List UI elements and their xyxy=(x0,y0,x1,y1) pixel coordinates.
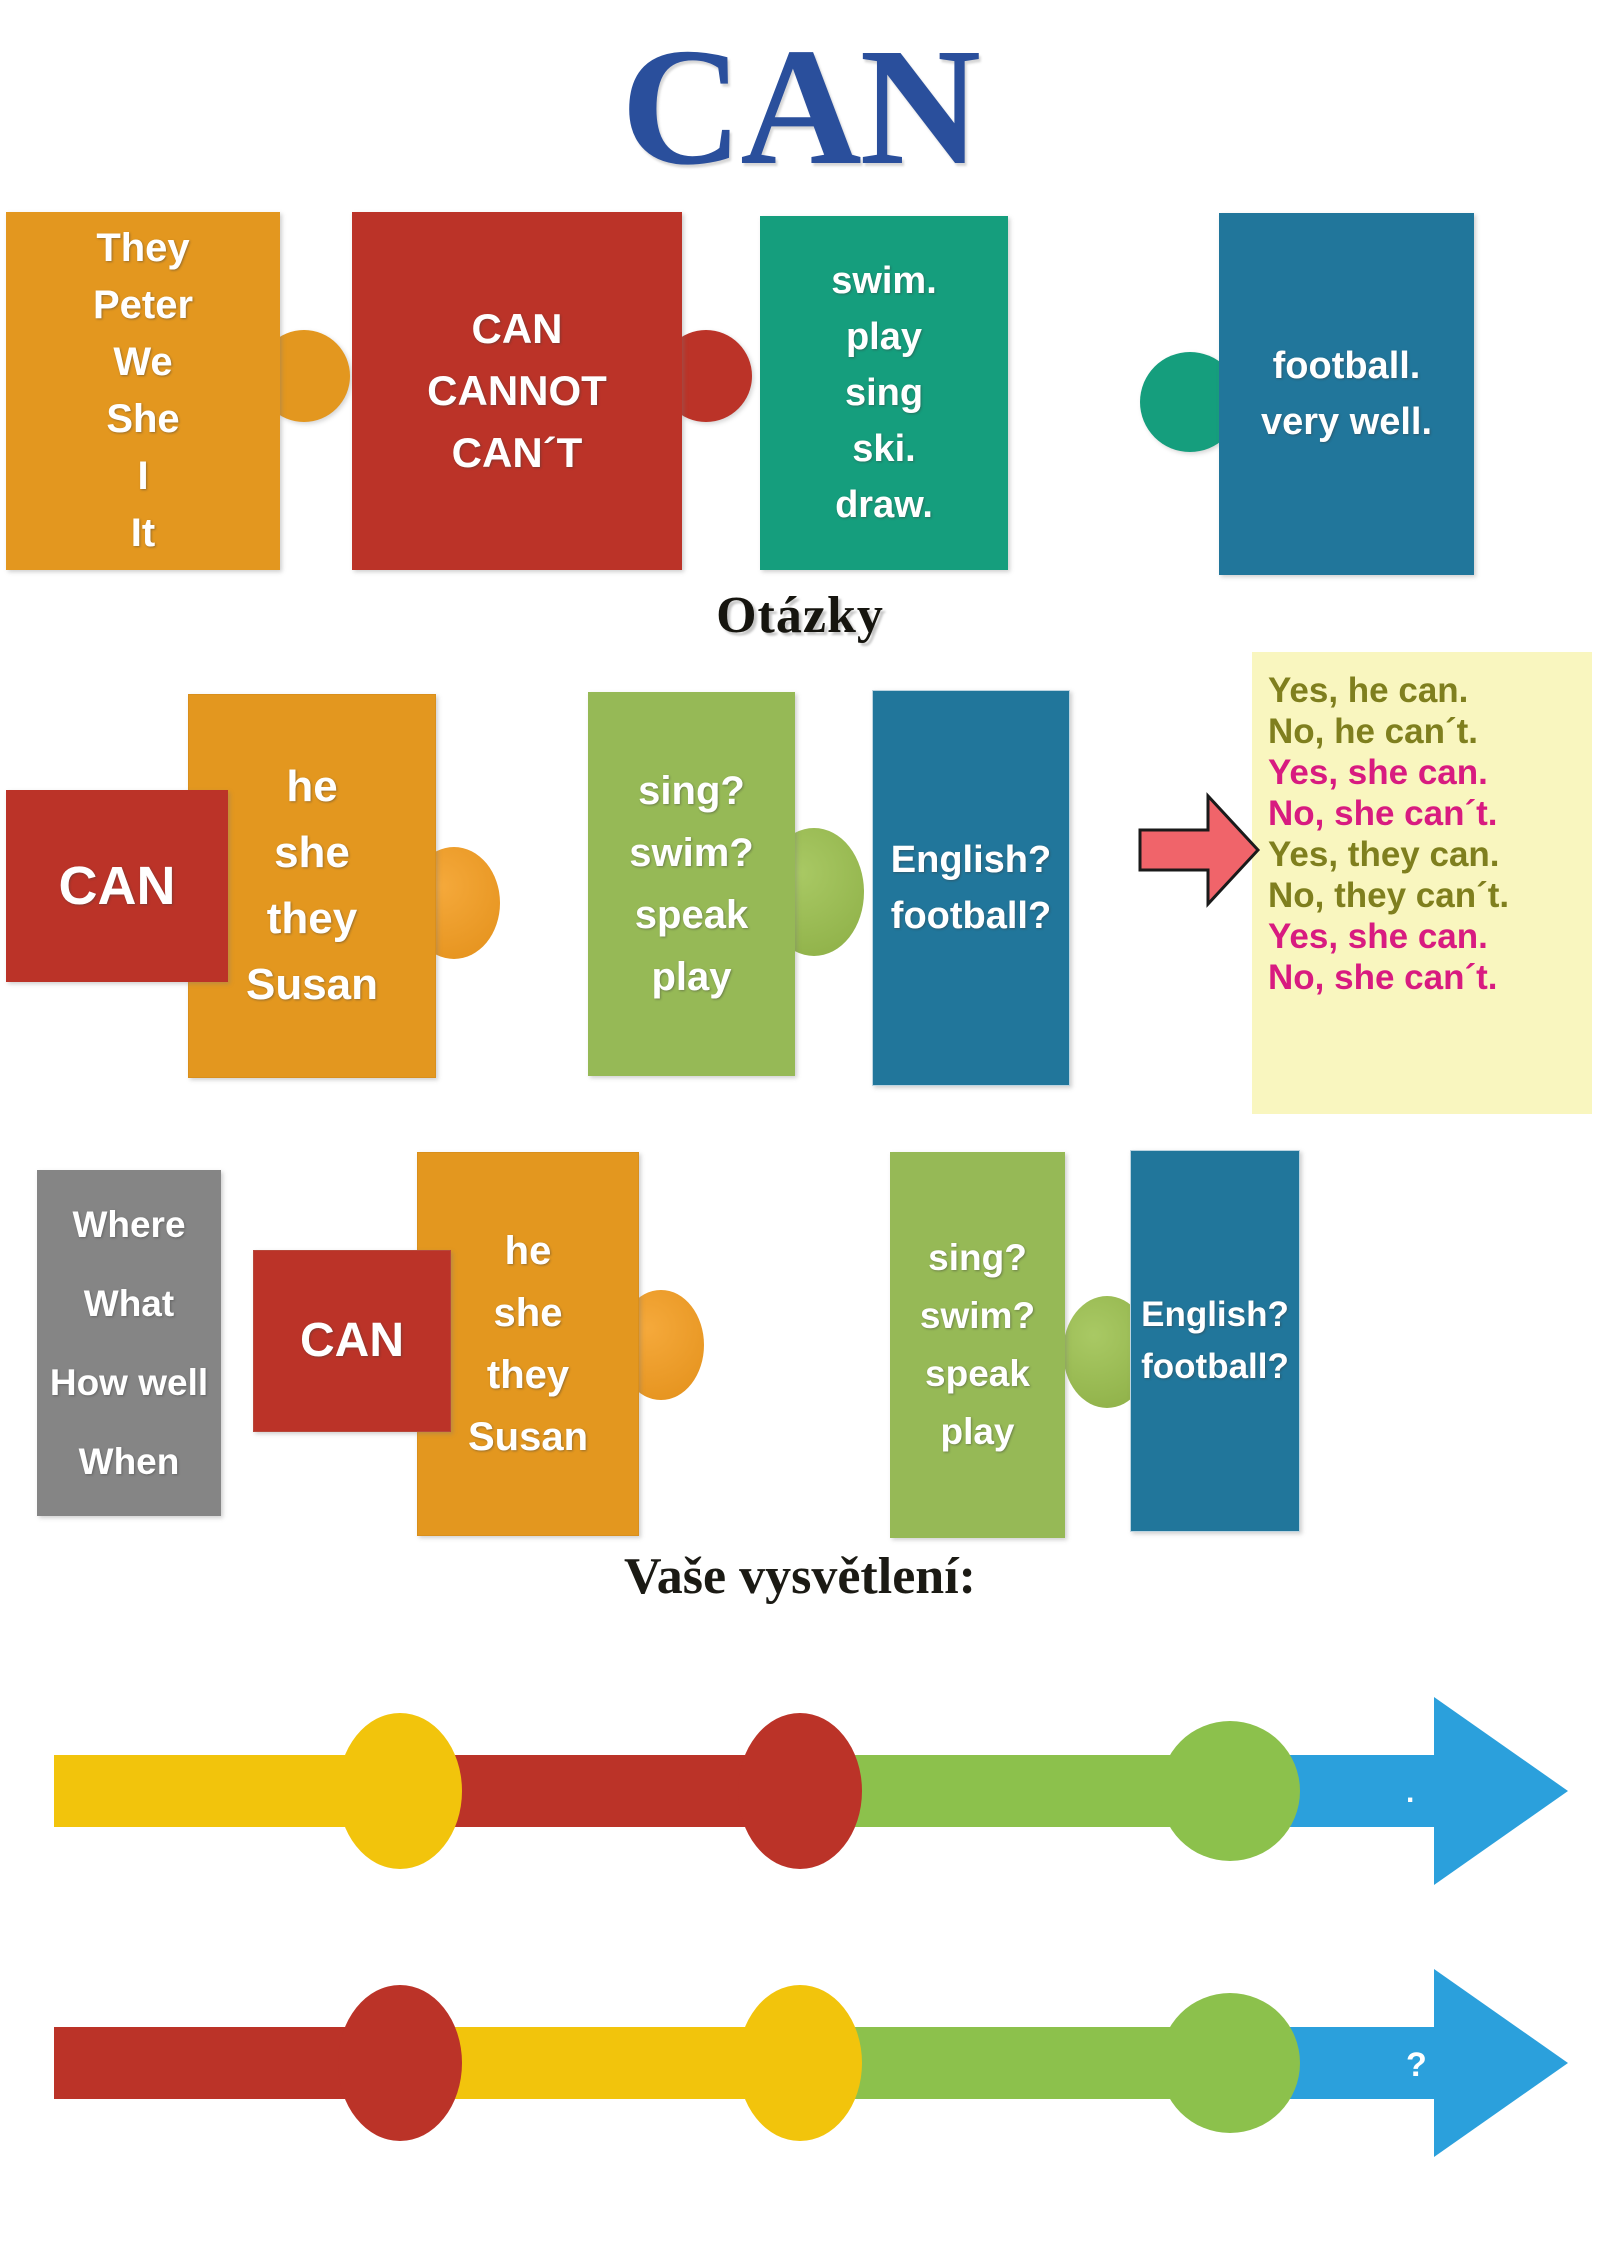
row1-subjects-card[interactable]: They Peter We She I It xyxy=(6,212,280,570)
row2-objects-card[interactable]: English? football? xyxy=(872,690,1070,1086)
row2-answers-panel: Yes, he can. No, he can´t. Yes, she can.… xyxy=(1252,652,1592,1114)
row3-objects-card[interactable]: English? football? xyxy=(1130,1150,1300,1532)
row3-question-word-0: Where xyxy=(72,1185,185,1264)
row3-question-word-2: How well xyxy=(50,1343,208,1422)
arrow-2-label: ? xyxy=(1406,2048,1427,2082)
row1-subject-0: They xyxy=(96,220,189,277)
row3-subject-2: they xyxy=(487,1344,569,1406)
row1-verb-4: draw. xyxy=(835,477,933,533)
row3-verb-3: play xyxy=(940,1403,1014,1461)
row3-question-word-3: When xyxy=(79,1422,180,1501)
row2-subject-3: Susan xyxy=(246,952,378,1018)
row3-verb-0: sing? xyxy=(928,1229,1027,1287)
row1-modal-0: CAN xyxy=(472,298,563,360)
row1-subject-4: I xyxy=(137,448,148,505)
row2-object-1: football? xyxy=(891,888,1051,944)
answer-2: Yes, she can. xyxy=(1268,752,1592,793)
row2-verb-1: swim? xyxy=(629,822,753,884)
row1-verb-1: play xyxy=(846,309,922,365)
row3-verbs-card[interactable]: sing? swim? speak play xyxy=(890,1152,1065,1538)
row1-object-1: very well. xyxy=(1261,394,1432,450)
row2-verb-2: speak xyxy=(635,884,748,946)
row3-question-words-card[interactable]: Where What How well When xyxy=(37,1170,221,1516)
row2-subject-0: he xyxy=(286,754,337,820)
answer-4: Yes, they can. xyxy=(1268,834,1592,875)
row3-object-0: English? xyxy=(1141,1289,1289,1341)
word-order-arrow-question xyxy=(0,1942,1600,2172)
row2-modal-label: CAN xyxy=(59,856,176,916)
row1-subject-2: We xyxy=(113,334,172,391)
answer-7: No, she can´t. xyxy=(1268,957,1592,998)
row1-subject-5: It xyxy=(131,505,155,562)
row3-verb-1: swim? xyxy=(920,1287,1035,1345)
row1-verb-3: ski. xyxy=(852,421,915,477)
row1-modal-1: CANNOT xyxy=(427,360,607,422)
arrow-1-label: . xyxy=(1406,1776,1414,1810)
row1-verb-0: swim. xyxy=(831,253,937,309)
row3-modal-label: CAN xyxy=(300,1314,404,1368)
row1-subject-1: Peter xyxy=(93,277,193,334)
row3-subject-3: Susan xyxy=(468,1406,588,1468)
row2-object-0: English? xyxy=(891,832,1051,888)
row2-verbs-card[interactable]: sing? swim? speak play xyxy=(588,692,795,1076)
answer-5: No, they can´t. xyxy=(1268,875,1592,916)
explanation-heading: Vaše vysvětlení: xyxy=(0,1548,1600,1606)
row2-verb-3: play xyxy=(651,946,731,1008)
row3-verb-2: speak xyxy=(925,1345,1030,1403)
row1-verb-2: sing xyxy=(845,365,923,421)
row3-subject-0: he xyxy=(505,1220,552,1282)
answer-0: Yes, he can. xyxy=(1268,670,1592,711)
row2-subject-1: she xyxy=(274,820,350,886)
row3-object-1: football? xyxy=(1141,1341,1289,1393)
word-order-arrow-statement xyxy=(0,1660,1600,1890)
row1-subject-3: She xyxy=(106,391,179,448)
answer-6: Yes, she can. xyxy=(1268,916,1592,957)
row1-object-0: football. xyxy=(1273,338,1421,394)
row3-subject-1: she xyxy=(494,1282,563,1344)
row1-objects-card[interactable]: football. very well. xyxy=(1219,213,1474,575)
row1-modal-2: CAN´T xyxy=(452,422,583,484)
row2-modal-card[interactable]: CAN xyxy=(6,790,228,982)
row1-verbs-card[interactable]: swim. play sing ski. draw. xyxy=(760,216,1008,570)
row3-question-word-1: What xyxy=(84,1264,174,1343)
row2-verb-0: sing? xyxy=(638,760,745,822)
questions-heading: Otázky xyxy=(0,588,1600,644)
answer-1: No, he can´t. xyxy=(1268,711,1592,752)
right-arrow-icon xyxy=(1136,790,1262,910)
page-title: CAN xyxy=(0,22,1600,192)
row2-subject-2: they xyxy=(267,886,357,952)
row1-modals-card[interactable]: CAN CANNOT CAN´T xyxy=(352,212,682,570)
row3-modal-card[interactable]: CAN xyxy=(253,1250,451,1432)
answer-3: No, she can´t. xyxy=(1268,793,1592,834)
